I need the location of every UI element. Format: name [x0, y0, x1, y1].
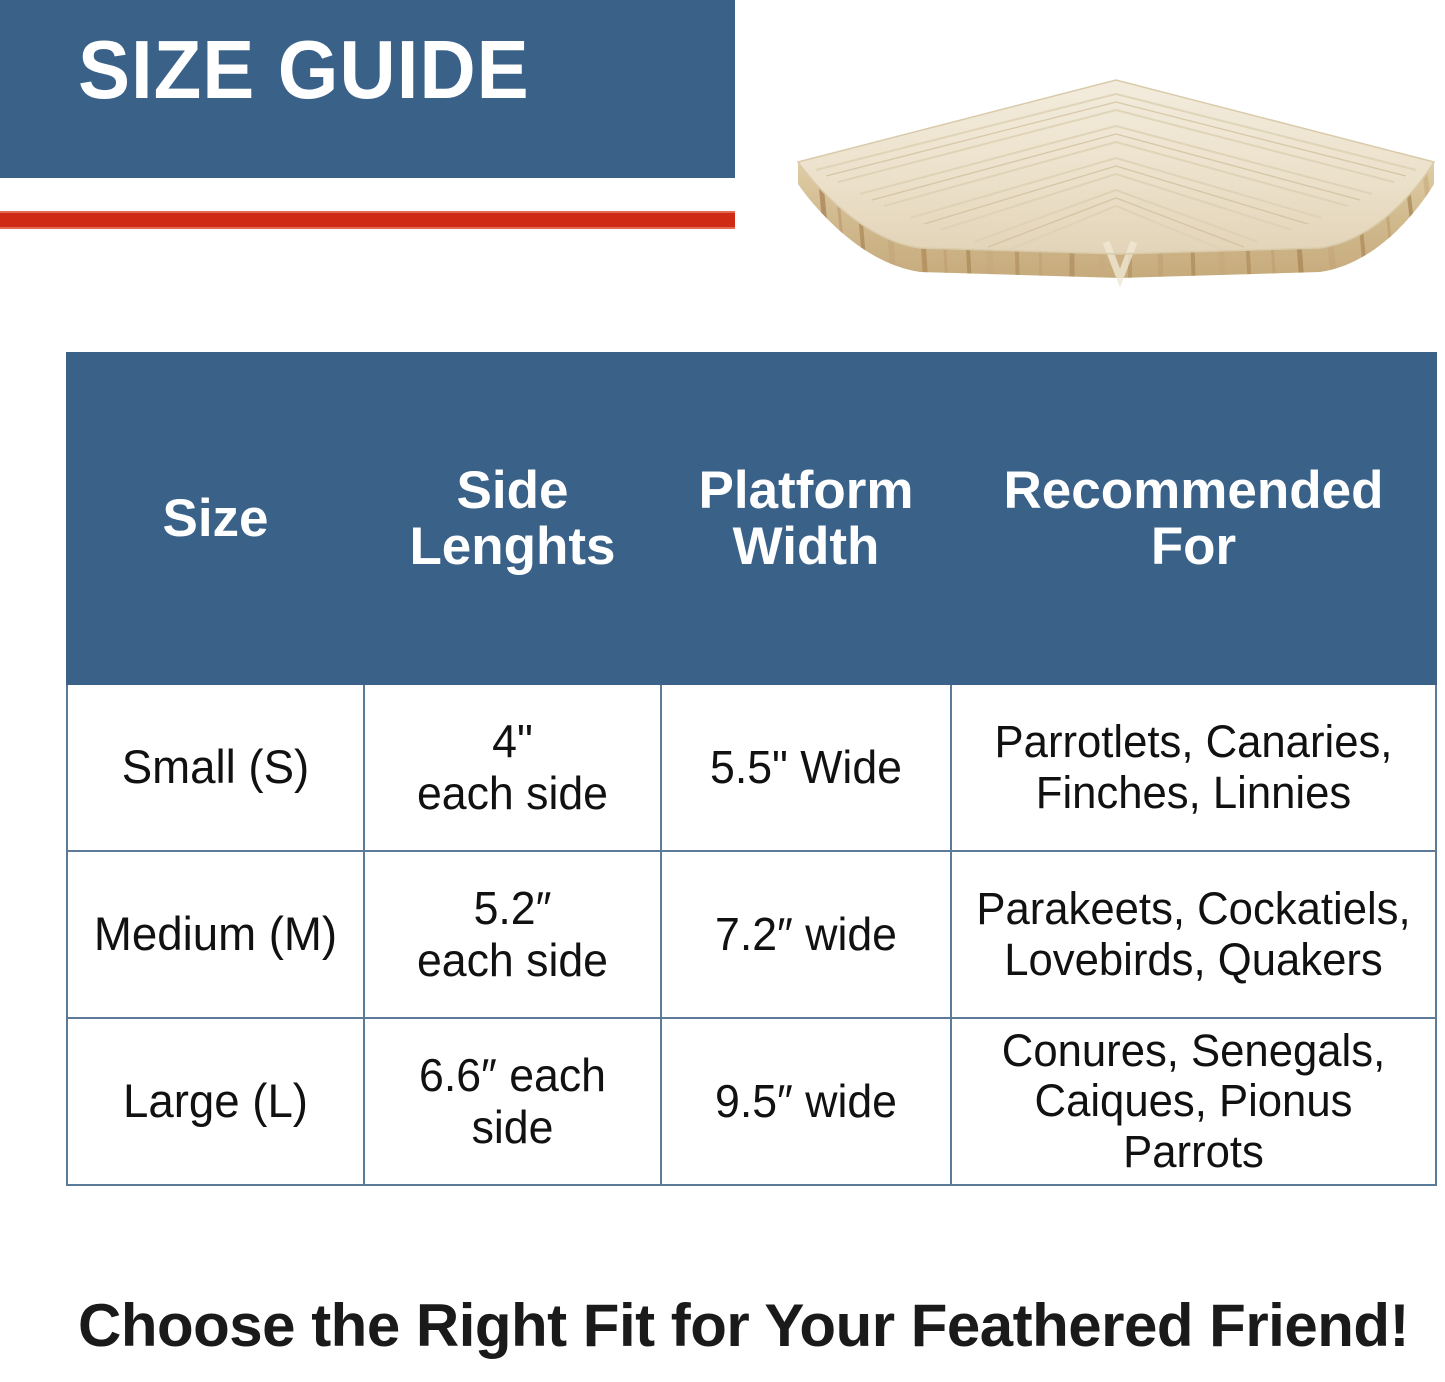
- cell-platform-width: 5.5" Wide: [665, 684, 946, 851]
- side-lengths-note: side: [375, 1102, 650, 1154]
- table-row: Large (L) 6.6″ each side 9.5″ wide Conur…: [67, 1018, 1436, 1185]
- column-header-recommended-for: Recommended For: [951, 353, 1436, 684]
- recommended-line-2: Caiques, Pionus Parrots: [965, 1076, 1422, 1177]
- cell-side-lengths: 6.6″ each side: [368, 1018, 656, 1185]
- cell-side-lengths: 5.2″ each side: [368, 851, 656, 1018]
- recommended-line-1: Parakeets, Cockatiels,: [965, 884, 1422, 934]
- footer-tagline: Choose the Right Fit for Your Feathered …: [78, 1296, 1428, 1356]
- side-lengths-value: 5.2″: [375, 883, 650, 935]
- wooden-corner-shelf-image: 0%: [790, 66, 1442, 298]
- recommended-line-2: Finches, Linnies: [965, 768, 1422, 818]
- page-title: SIZE GUIDE: [78, 28, 530, 111]
- table-row: Small (S) 4" each side 5.5" Wide Parrotl…: [67, 684, 1436, 851]
- cell-size: Small (S): [71, 684, 359, 851]
- table-header: Size Side Lenghts Platform Width Recomme…: [67, 353, 1436, 684]
- column-header-side-lengths: Side Lenghts: [364, 353, 661, 684]
- table-row: Medium (M) 5.2″ each side 7.2″ wide Para…: [67, 851, 1436, 1018]
- side-lengths-value: 6.6″ each: [375, 1050, 650, 1102]
- cell-recommended-for: Parakeets, Cockatiels, Lovebirds, Quaker…: [958, 851, 1428, 1018]
- side-lengths-value: 4": [375, 716, 650, 768]
- red-divider-rule: [0, 211, 735, 229]
- recommended-line-1: Conures, Senegals,: [965, 1026, 1422, 1076]
- table-body: Small (S) 4" each side 5.5" Wide Parrotl…: [67, 684, 1436, 1185]
- table-header-row: Size Side Lenghts Platform Width Recomme…: [67, 353, 1436, 684]
- cell-platform-width: 7.2″ wide: [665, 851, 946, 1018]
- cell-size: Medium (M): [71, 851, 359, 1018]
- cell-recommended-for: Conures, Senegals, Caiques, Pionus Parro…: [958, 1018, 1428, 1185]
- size-guide-table: Size Side Lenghts Platform Width Recomme…: [66, 352, 1437, 1186]
- cell-recommended-for: Parrotlets, Canaries, Finches, Linnies: [958, 684, 1428, 851]
- side-lengths-note: each side: [375, 768, 650, 820]
- size-guide-banner: SIZE GUIDE: [0, 0, 735, 178]
- side-lengths-note: each side: [375, 935, 650, 987]
- column-header-size: Size: [67, 353, 364, 684]
- recommended-line-2: Lovebirds, Quakers: [965, 935, 1422, 985]
- cell-side-lengths: 4" each side: [368, 684, 656, 851]
- recommended-line-1: Parrotlets, Canaries,: [965, 717, 1422, 767]
- cell-size: Large (L): [71, 1018, 359, 1185]
- cell-platform-width: 9.5″ wide: [665, 1018, 946, 1185]
- column-header-platform-width: Platform Width: [661, 353, 951, 684]
